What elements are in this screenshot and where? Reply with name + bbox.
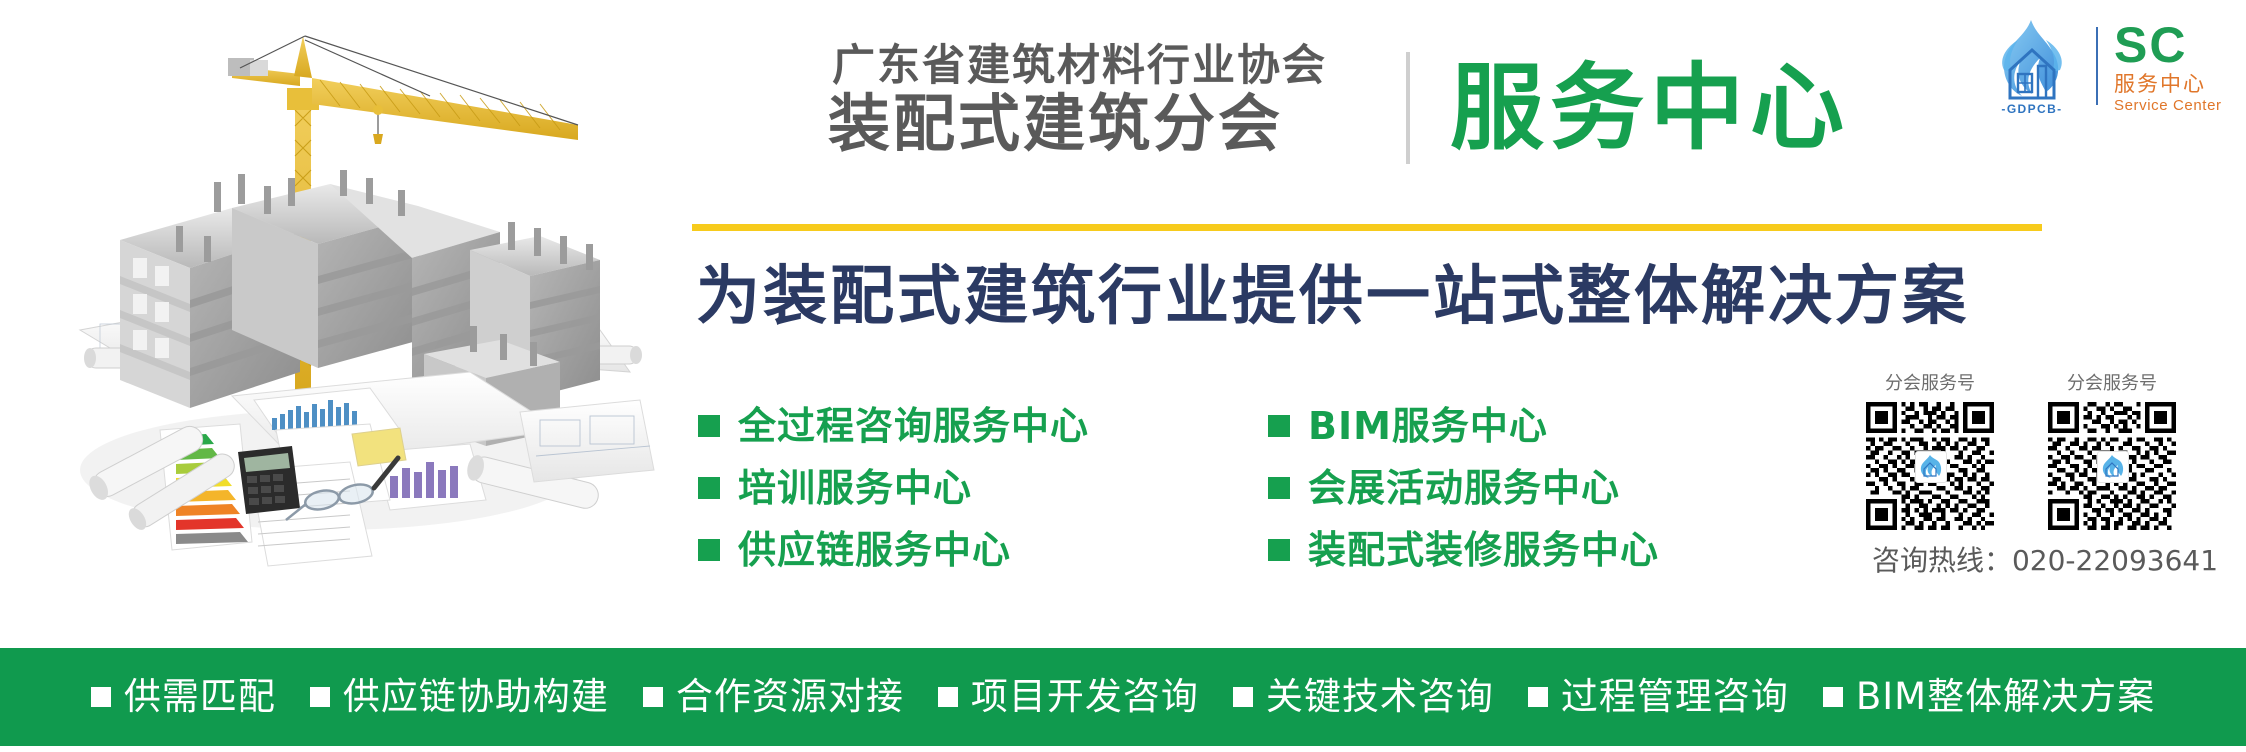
- list-item[interactable]: 供应链服务中心: [698, 519, 1258, 581]
- qr-caption: 分会服务号: [1855, 372, 2005, 396]
- list-item[interactable]: 关键技术咨询: [1233, 675, 1494, 719]
- bottom-item-label: 合作资源对接: [676, 675, 904, 719]
- service-label: 全过程咨询服务中心: [738, 404, 1089, 448]
- qr-center-logo-icon: [1915, 451, 1947, 483]
- org-name: 广东省建筑材料行业协会: [832, 40, 1402, 92]
- gold-divider-rule: [692, 224, 2042, 231]
- square-bullet-icon: [91, 687, 111, 707]
- bottom-item-label: 关键技术咨询: [1266, 675, 1494, 719]
- list-item[interactable]: 装配式装修服务中心: [1268, 519, 1828, 581]
- service-column-right: BIM服务中心 会展活动服务中心 装配式装修服务中心: [1268, 395, 1828, 581]
- list-item[interactable]: 全过程咨询服务中心: [698, 395, 1258, 457]
- calculator-graphic: [238, 446, 300, 514]
- square-bullet-icon: [1823, 687, 1843, 707]
- list-item[interactable]: BIM整体解决方案: [1823, 675, 2155, 719]
- qr-cell: 分会服务号: [2037, 372, 2187, 530]
- service-label: 装配式装修服务中心: [1308, 528, 1659, 572]
- qr-cell: 分会服务号: [1855, 372, 2005, 530]
- square-bullet-icon: [698, 539, 720, 561]
- square-bullet-icon: [1233, 687, 1253, 707]
- bottom-item-label: 过程管理咨询: [1561, 675, 1789, 719]
- qr-code-image-2[interactable]: [2048, 402, 2176, 530]
- square-bullet-icon: [643, 687, 663, 707]
- hotline-text: 咨询热线：020-22093641: [1855, 544, 2235, 578]
- square-bullet-icon: [938, 687, 958, 707]
- list-item[interactable]: 培训服务中心: [698, 457, 1258, 519]
- bottom-item-label: 项目开发咨询: [971, 675, 1199, 719]
- service-label: 会展活动服务中心: [1308, 466, 1620, 510]
- square-bullet-icon: [698, 415, 720, 437]
- qr-contact-block: 分会服务号: [1855, 372, 2235, 592]
- banner-content: 广东省建筑材料行业协会 装配式建筑分会 服务中心 为装配式建筑行业提供一站式整体…: [660, 0, 2246, 648]
- bottom-item-label: 供需匹配: [124, 675, 276, 719]
- title-block: 广东省建筑材料行业协会 装配式建筑分会 服务中心: [660, 40, 2246, 180]
- list-item[interactable]: 合作资源对接: [643, 675, 904, 719]
- promo-banner: -GDPCB- SC 服务中心 Service Center 广东省建筑材料行业…: [0, 0, 2246, 752]
- square-bullet-icon: [310, 687, 330, 707]
- bottom-item-label: 供应链协助构建: [343, 675, 609, 719]
- service-label: BIM服务中心: [1308, 404, 1548, 448]
- title-vertical-divider: [1406, 52, 1410, 164]
- qr-code-image-1[interactable]: [1866, 402, 1994, 530]
- list-item[interactable]: 会展活动服务中心: [1268, 457, 1828, 519]
- branch-name: 装配式建筑分会: [828, 88, 1428, 160]
- square-bullet-icon: [1268, 415, 1290, 437]
- list-item[interactable]: 供应链协助构建: [310, 675, 609, 719]
- list-item[interactable]: 供需匹配: [91, 675, 276, 719]
- square-bullet-icon: [1268, 539, 1290, 561]
- square-bullet-icon: [698, 477, 720, 499]
- service-center-title: 服务中心: [1450, 56, 1850, 162]
- bottom-item-label: BIM整体解决方案: [1856, 675, 2155, 719]
- qr-center-logo-icon: [2097, 451, 2129, 483]
- list-item[interactable]: 项目开发咨询: [938, 675, 1199, 719]
- service-column-left: 全过程咨询服务中心 培训服务中心 供应链服务中心: [698, 395, 1258, 581]
- service-label: 供应链服务中心: [738, 528, 1011, 572]
- list-item[interactable]: 过程管理咨询: [1528, 675, 1789, 719]
- qr-caption: 分会服务号: [2037, 372, 2187, 396]
- service-center-list: 全过程咨询服务中心 培训服务中心 供应链服务中心 BIM服务中心: [698, 395, 1818, 585]
- square-bullet-icon: [1268, 477, 1290, 499]
- bottom-services-bar: 供需匹配 供应链协助构建 合作资源对接 项目开发咨询 关键技术咨询 过程管理咨询…: [0, 648, 2246, 746]
- tagline: 为装配式建筑行业提供一站式整体解决方案: [696, 255, 2116, 339]
- list-item[interactable]: BIM服务中心: [1268, 395, 1828, 457]
- square-bullet-icon: [1528, 687, 1548, 707]
- hero-construction-image: [0, 0, 660, 648]
- service-label: 培训服务中心: [738, 466, 972, 510]
